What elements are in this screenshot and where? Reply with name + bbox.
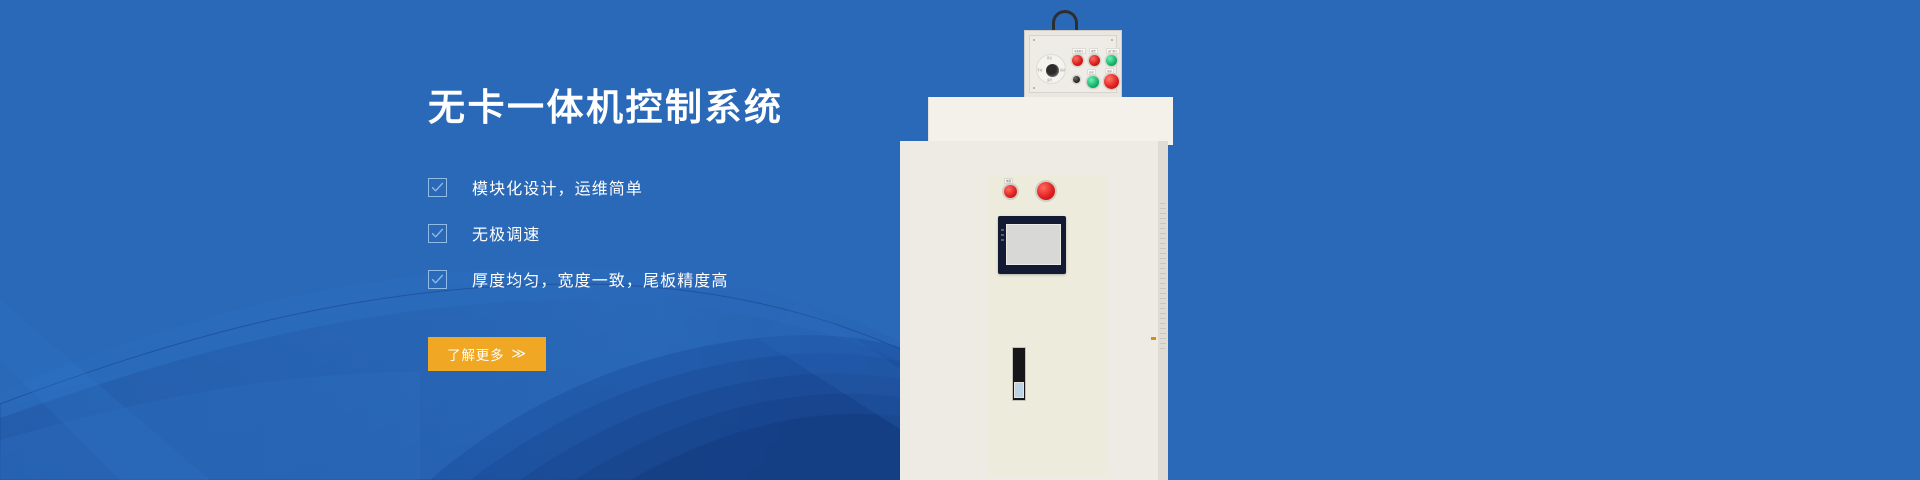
lamp-label: 电源指示 — [1072, 48, 1086, 54]
learn-more-label: 了解更多 — [447, 344, 504, 364]
card-slot-insert — [1014, 382, 1024, 398]
feature-text: 模块化设计，运维简单 — [472, 175, 643, 199]
feature-list: 模块化设计，运维简单 无极调速 厚度均匀，宽度一致，尾板精度高 — [428, 171, 1188, 296]
chevron-right-icon: ≫ — [511, 345, 526, 362]
knob-label-top: 停止 — [1047, 56, 1052, 60]
knob-label-left: 手动 — [1037, 68, 1042, 72]
feature-text: 厚度均匀，宽度一致，尾板精度高 — [472, 267, 729, 291]
list-item: 厚度均匀，宽度一致，尾板精度高 — [428, 263, 1188, 296]
learn-more-button[interactable]: 了解更多 ≫ — [428, 337, 546, 371]
knob-label-bottom: 运行 — [1047, 78, 1052, 82]
lamp-red-3[interactable] — [1104, 74, 1119, 89]
lamp-label: 运行指示 — [1106, 48, 1120, 54]
knob-label-right: 自动 — [1060, 68, 1065, 72]
list-item: 模块化设计，运维简单 — [428, 171, 1188, 204]
checkbox-checked-icon — [428, 270, 447, 289]
page-title: 无卡一体机控制系统 — [428, 88, 1188, 129]
selector-knob[interactable] — [1046, 64, 1059, 77]
screw-icon — [1111, 39, 1113, 41]
lamp-red-2[interactable] — [1089, 55, 1100, 66]
lamp-label: 启动 — [1087, 69, 1096, 75]
lamp-green-1[interactable] — [1106, 55, 1117, 66]
lamp-red-1[interactable] — [1072, 55, 1083, 66]
list-item: 无极调速 — [428, 217, 1188, 250]
selector-knob-plate[interactable]: 停止 手动 自动 运行 — [1036, 54, 1066, 84]
feature-text: 无极调速 — [472, 221, 540, 245]
checkbox-checked-icon — [428, 178, 447, 197]
lamp-black[interactable] — [1073, 76, 1080, 83]
lamp-green-2[interactable] — [1087, 76, 1099, 88]
control-panel-face: 停止 手动 自动 运行 电源指示 报警 运行指示 启动 急停 — [1029, 35, 1117, 93]
lamp-label: 报警 — [1089, 48, 1098, 54]
checkbox-checked-icon — [428, 224, 447, 243]
hero-content: 无卡一体机控制系统 模块化设计，运维简单 无极调速 厚度均匀，宽度一致，尾板精度… — [428, 88, 1188, 371]
power-cable-icon — [1052, 10, 1078, 32]
screw-icon — [1033, 39, 1035, 41]
hero-banner: 停止 手动 自动 运行 电源指示 报警 运行指示 启动 急停 — [0, 0, 1920, 480]
